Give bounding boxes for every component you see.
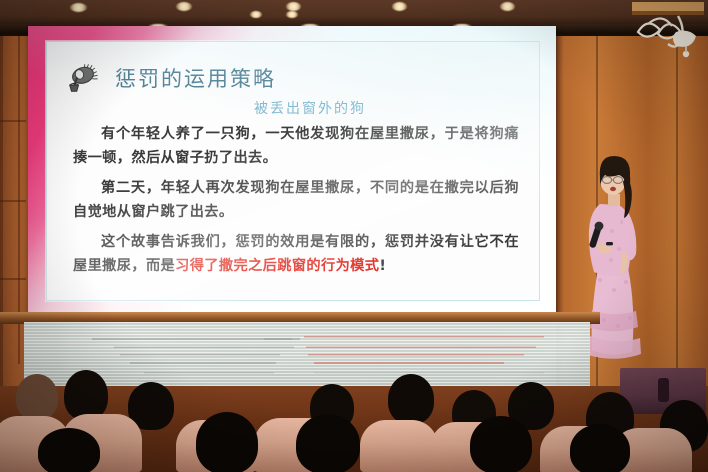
slide-subtitle: 被丢出窗外的狗	[47, 98, 539, 118]
slide-conclusion: 这个故事告诉我们，惩罚的效用是有限的，惩罚并没有让它不在屋里撒尿，而是习得了撒完…	[73, 230, 519, 278]
audience-head	[196, 412, 258, 472]
wall-panel-seam	[0, 200, 26, 202]
ceiling-light	[250, 11, 262, 18]
audience-head	[38, 428, 100, 472]
slide-paragraph: 第二天，年轻人再次发现狗在屋里撒尿，不同的是在撒完以后狗自觉地从窗户跳了出去。	[73, 176, 519, 224]
wall-panel-seam	[0, 120, 26, 122]
ceiling-light	[392, 2, 407, 11]
audience-head	[470, 416, 532, 472]
reflection-text-line	[114, 346, 294, 348]
ceiling-light	[500, 2, 515, 11]
projection-screen: 惩罚的运用策略 被丢出窗外的狗 有个年轻人养了一只狗，一天他发现狗在屋里撒尿，于…	[28, 26, 556, 314]
reflection-text-line	[314, 362, 504, 364]
conclusion-highlight: 习得了撒完之后跳窗的行为模式	[175, 258, 379, 274]
wall-sconce-light	[628, 2, 708, 64]
slide-title: 惩罚的运用策略	[115, 63, 276, 93]
audience-area	[0, 370, 708, 472]
reflection-text-line	[304, 336, 544, 338]
ceiling-light	[286, 11, 298, 18]
wall-panel-seam	[0, 278, 26, 280]
ceiling-light	[286, 2, 301, 11]
slide-paragraph: 有个年轻人养了一只狗，一天他发现狗在屋里撒尿，于是将狗痛揍一顿，然后从窗子扔了出…	[73, 122, 519, 170]
reflection-text-line	[92, 338, 292, 340]
photo-scene: 惩罚的运用策略 被丢出窗外的狗 有个年轻人养了一只狗，一天他发现狗在屋里撒尿，于…	[0, 0, 708, 472]
reflection-text-line	[308, 354, 524, 356]
slide-body: 有个年轻人养了一只狗，一天他发现狗在屋里撒尿，于是将狗痛揍一顿，然后从窗子扔了出…	[73, 122, 519, 284]
audience-head	[388, 374, 434, 424]
reflection-text-line	[120, 354, 280, 356]
ceiling-light	[176, 2, 192, 11]
reflection-text-line	[264, 338, 300, 340]
reflection-text-line	[306, 346, 536, 348]
presentation-slide: 惩罚的运用策略 被丢出窗外的狗 有个年轻人养了一只狗，一天他发现狗在屋里撒尿，于…	[46, 41, 540, 301]
audience-head	[570, 424, 630, 472]
slide-title-row: 惩罚的运用策略	[65, 62, 276, 94]
conclusion-tail: !	[379, 258, 386, 274]
auditorium-seat	[360, 420, 438, 472]
ceiling-light	[70, 3, 87, 12]
megaphone-icon	[65, 62, 101, 94]
audience-head	[64, 370, 108, 420]
audience-head	[296, 414, 360, 472]
reflection-text-line	[130, 362, 276, 364]
audience-head	[16, 374, 58, 420]
